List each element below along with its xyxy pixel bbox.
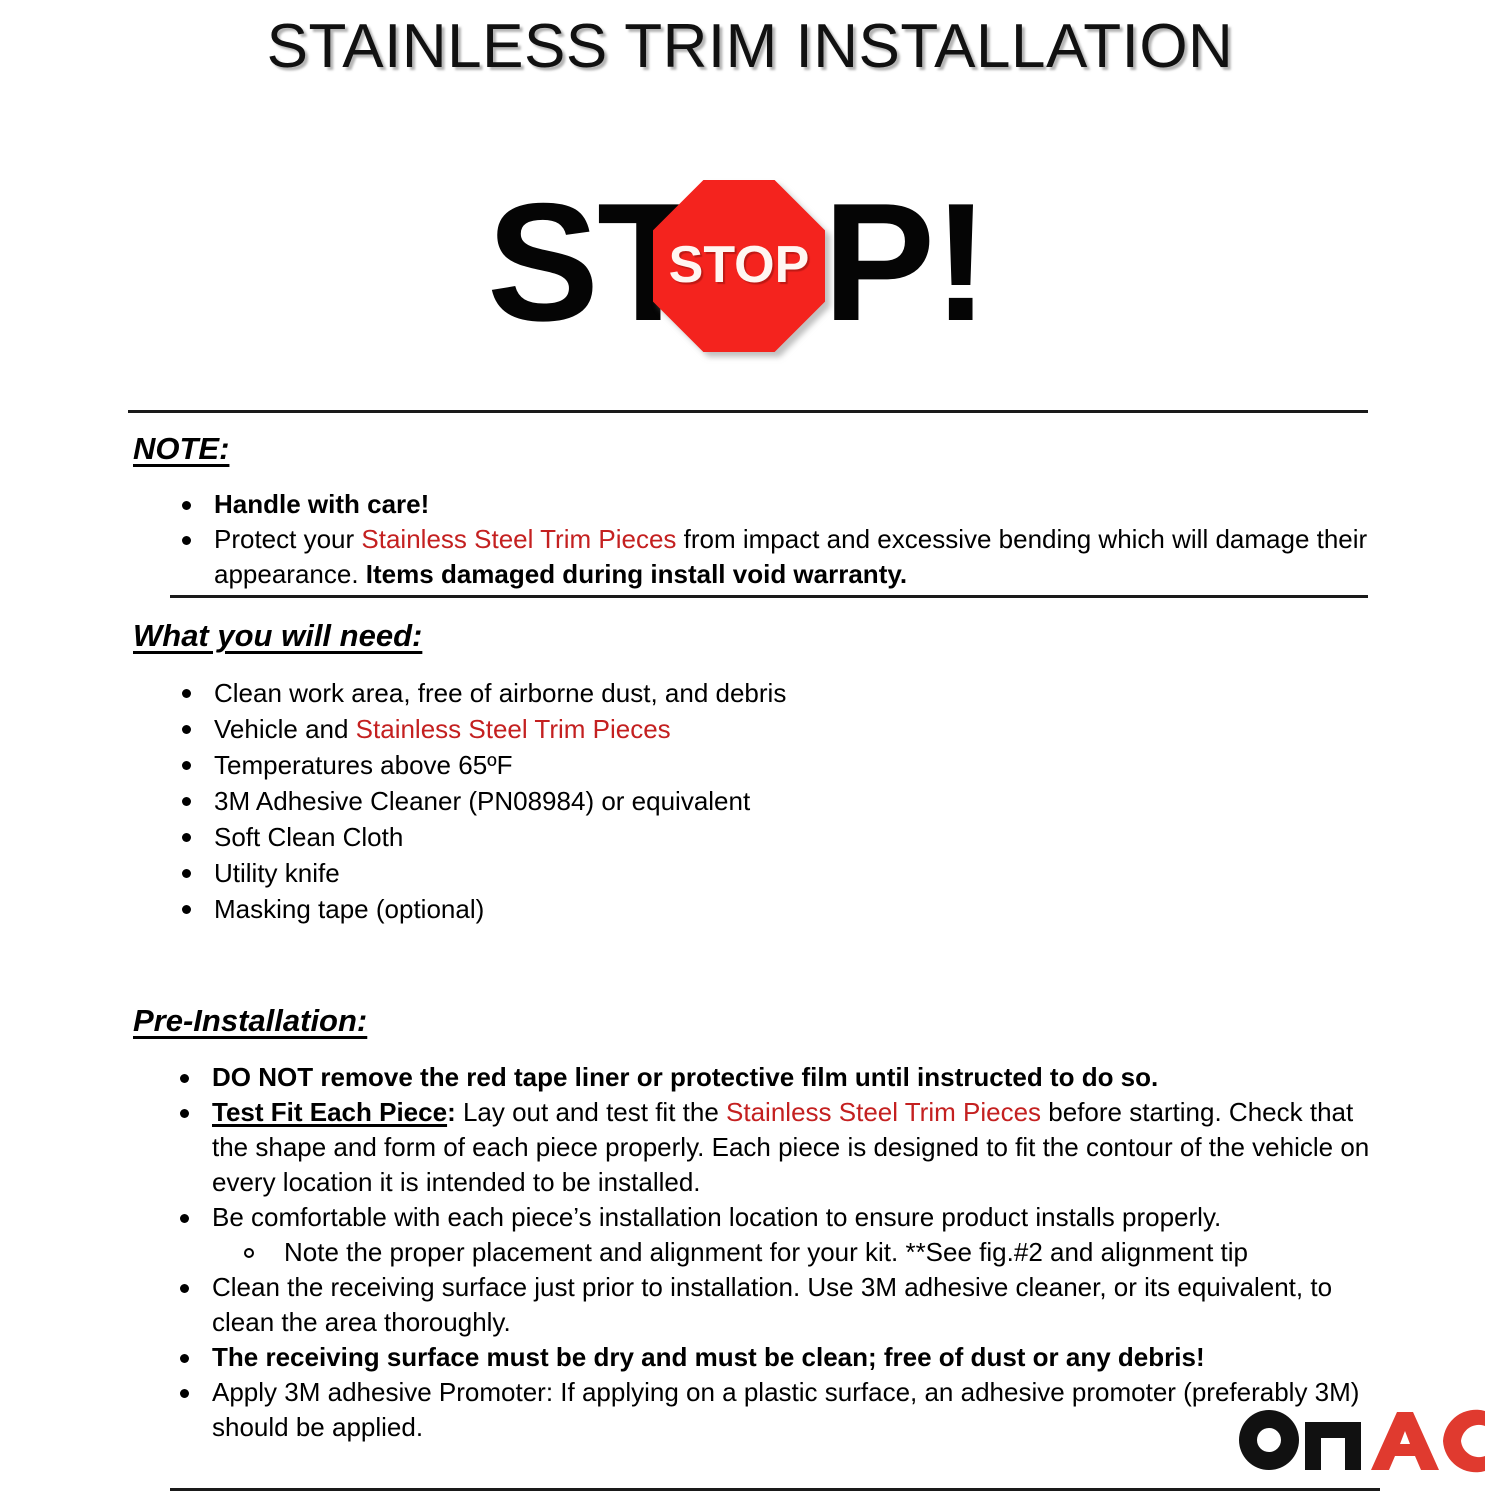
text-run: Lay out and test fit the [456, 1097, 726, 1127]
text-run: Vehicle and [214, 714, 356, 744]
text-run: 3M Adhesive Cleaner (PN08984) or equival… [214, 786, 750, 816]
text-run: Test Fit Each Piece [212, 1097, 447, 1127]
stop-wordmark-right: P! [823, 172, 987, 352]
pre-installation-heading: Pre-Installation: [133, 1002, 367, 1040]
note-heading: NOTE: [133, 430, 229, 468]
list-item: Protect your Stainless Steel Trim Pieces… [178, 522, 1368, 592]
text-run: Note the proper placement and alignment … [284, 1237, 1248, 1267]
text-run: Stainless Steel Trim Pieces [726, 1097, 1041, 1127]
omac-logo-text: OmAC [1237, 1474, 1238, 1475]
list-item: Temperatures above 65ºF [178, 747, 1368, 783]
list-item: Clean the receiving surface just prior t… [176, 1270, 1376, 1340]
what-you-need-heading: What you will need: [133, 617, 422, 655]
list-item: Clean work area, free of airborne dust, … [178, 675, 1368, 711]
text-run: Apply 3M adhesive Promoter: If applying … [212, 1377, 1359, 1442]
list-item: Soft Clean Cloth [178, 819, 1368, 855]
text-run: Items damaged during install void warran… [366, 559, 907, 589]
text-run: DO NOT remove the red tape liner or prot… [212, 1062, 1158, 1092]
text-run: Temperatures above 65ºF [214, 750, 513, 780]
text-run: Clean work area, free of airborne dust, … [214, 678, 786, 708]
divider-note [170, 595, 1368, 598]
list-item: Apply 3M adhesive Promoter: If applying … [176, 1375, 1376, 1445]
list-item: Utility knife [178, 855, 1368, 891]
omac-logo-letter-c [1443, 1410, 1485, 1473]
list-item: DO NOT remove the red tape liner or prot… [176, 1060, 1376, 1095]
omac-logo: OmAC [1237, 1408, 1487, 1474]
sub-list: Note the proper placement and alignment … [212, 1235, 1376, 1270]
stop-sign-label: STOP [653, 180, 825, 352]
list-item: 3M Adhesive Cleaner (PN08984) or equival… [178, 783, 1368, 819]
sub-list-item: Note the proper placement and alignment … [240, 1235, 1376, 1270]
omac-logo-letter-o [1239, 1410, 1299, 1470]
list-item: Test Fit Each Piece: Lay out and test fi… [176, 1095, 1376, 1200]
what-you-need-list: Clean work area, free of airborne dust, … [178, 675, 1368, 927]
text-run: : [447, 1097, 456, 1127]
list-item: Be comfortable with each piece’s install… [176, 1200, 1376, 1270]
divider-bottom [170, 1488, 1380, 1491]
text-run: Protect your [214, 524, 361, 554]
pre-installation-list: DO NOT remove the red tape liner or prot… [176, 1060, 1376, 1445]
list-item: Masking tape (optional) [178, 891, 1368, 927]
stop-sign-icon: STOP [653, 180, 825, 352]
text-run: Stainless Steel Trim Pieces [356, 714, 671, 744]
text-run: The receiving surface must be dry and mu… [212, 1342, 1205, 1372]
divider-top [128, 410, 1368, 413]
text-run: Masking tape (optional) [214, 894, 484, 924]
list-item: The receiving surface must be dry and mu… [176, 1340, 1376, 1375]
text-run: Be comfortable with each piece’s install… [212, 1202, 1221, 1232]
omac-logo-letter-a [1371, 1412, 1439, 1470]
list-item: Handle with care! [178, 487, 1368, 522]
omac-logo-letter-m [1305, 1422, 1361, 1470]
list-item: Vehicle and Stainless Steel Trim Pieces [178, 711, 1368, 747]
text-run: Stainless Steel Trim Pieces [361, 524, 676, 554]
text-run: Clean the receiving surface just prior t… [212, 1272, 1332, 1337]
page-title: STAINLESS TRIM INSTALLATION [0, 8, 1500, 86]
note-list: Handle with care!Protect your Stainless … [178, 487, 1368, 592]
text-run: Utility knife [214, 858, 340, 888]
text-run: Soft Clean Cloth [214, 822, 403, 852]
stop-sign-graphic: ST P! STOP [485, 178, 990, 358]
text-run: Handle with care! [214, 489, 429, 519]
